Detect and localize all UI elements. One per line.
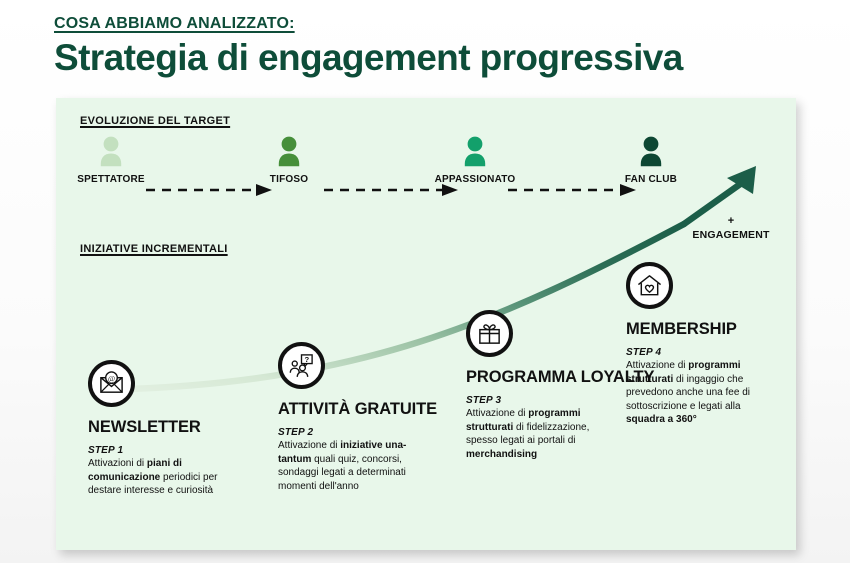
persona-appassionato: APPASSIONATO — [410, 136, 540, 185]
engagement-plus-sign: + — [666, 216, 796, 227]
diagram-panel: EVOLUZIONE DEL TARGET SPETTATORE TIFOSO — [56, 98, 796, 550]
step-title: NEWSLETTER — [88, 418, 238, 436]
step-description: Attivazione di programmi strutturati di … — [466, 407, 616, 461]
step-title: MEMBERSHIP — [626, 320, 766, 338]
dashed-arrow-icon — [146, 184, 276, 196]
step-card-membership[interactable]: MEMBERSHIP STEP 4 Attivazione di program… — [626, 262, 766, 427]
step-card-attivita-gratuite[interactable]: ? ATTIVITÀ GRATUITE STEP 2 Attivazione d… — [278, 342, 437, 493]
engagement-caption: + ENGAGEMENT — [666, 216, 796, 241]
email-envelope-icon: @ — [88, 360, 135, 407]
engagement-label: ENGAGEMENT — [666, 229, 796, 241]
step-description: Attivazioni di piani di comunicazione pe… — [88, 457, 238, 498]
persona-fan-club: FAN CLUB — [586, 136, 716, 185]
section-label-initiatives: INIZIATIVE INCREMENTALI — [80, 243, 228, 255]
dashed-arrow-icon — [324, 184, 462, 196]
person-icon — [98, 136, 124, 167]
persona-spettatore: SPETTATORE — [56, 136, 176, 185]
step-number: STEP 1 — [88, 445, 238, 456]
house-heart-icon — [626, 262, 673, 309]
step-description: Attivazione di programmi strutturati di … — [626, 359, 766, 427]
step-title: ATTIVITÀ GRATUITE — [278, 400, 437, 418]
step-number: STEP 4 — [626, 347, 766, 358]
dashed-arrow-icon — [508, 184, 640, 196]
persona-tifoso: TIFOSO — [224, 136, 354, 185]
section-label-target-evolution: EVOLUZIONE DEL TARGET — [80, 115, 230, 127]
person-icon — [276, 136, 302, 167]
svg-text:?: ? — [304, 355, 309, 364]
page-header: COSA ABBIAMO ANALIZZATO: Strategia di en… — [54, 14, 814, 80]
eyebrow-label: COSA ABBIAMO ANALIZZATO: — [54, 14, 814, 33]
step-description: Attivazione di iniziative una-tantum qua… — [278, 439, 428, 493]
svg-text:@: @ — [108, 374, 115, 383]
people-question-icon: ? — [278, 342, 325, 389]
person-icon — [462, 136, 488, 167]
page-title: Strategia di engagement progressiva — [54, 37, 814, 80]
step-card-newsletter[interactable]: @ NEWSLETTER STEP 1 Attivazioni di piani… — [88, 360, 238, 498]
step-number: STEP 2 — [278, 427, 437, 438]
gift-box-icon — [466, 310, 513, 357]
persona-label: FAN CLUB — [586, 174, 716, 185]
person-icon — [638, 136, 664, 167]
